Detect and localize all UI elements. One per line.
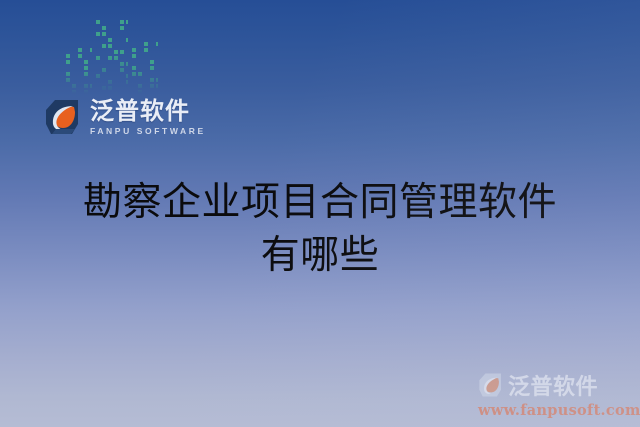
cityscape-left-tower (66, 48, 92, 94)
cityscape-pixel (144, 90, 148, 94)
cityscape-pixel (90, 90, 94, 94)
cityscape-pixel (90, 60, 94, 64)
cityscape-pixel (108, 86, 112, 90)
cityscape-pixel (96, 74, 100, 78)
cityscape-pixel (144, 78, 148, 82)
cityscape-pixel (102, 50, 106, 54)
cityscape-pixel (132, 54, 136, 58)
cityscape-pixel (132, 48, 136, 52)
cityscape-pixel (120, 74, 124, 78)
promo-banner: 泛普软件 FANPU SOFTWARE 勘察企业项目合同管理软件 有哪些 泛普软… (0, 0, 640, 427)
cityscape-pixel (114, 26, 118, 30)
cityscape-pixel (114, 74, 118, 78)
cityscape-pixel (150, 48, 154, 52)
cityscape-pixel (90, 54, 94, 58)
cityscape-pixel (138, 66, 142, 70)
cityscape-pixel (144, 42, 148, 46)
cityscape-pixel (96, 92, 100, 96)
cityscape-pixel (120, 44, 124, 48)
cityscape-pixel (132, 60, 136, 64)
cityscape-pixel (144, 60, 148, 64)
cityscape-pixel (102, 26, 106, 30)
cityscape-pixel (102, 74, 106, 78)
cityscape-pixel (156, 42, 160, 46)
cityscape-pixel (72, 78, 76, 82)
cityscape-pixel (90, 84, 94, 88)
cityscape-pixel (120, 32, 124, 36)
cityscape-pixel (108, 68, 112, 72)
cityscape-pixel (150, 90, 154, 94)
cityscape-pixel (156, 90, 160, 94)
cityscape-pixel (78, 54, 82, 58)
cityscape-center-tower (96, 20, 128, 94)
cityscape-pixel (138, 78, 142, 82)
cityscape-pixel (120, 20, 124, 24)
cityscape-pixel (114, 38, 118, 42)
cityscape-pixel (84, 72, 88, 76)
cityscape-pixel (126, 62, 130, 66)
cityscape-pixel (102, 44, 106, 48)
cityscape-pixel (90, 66, 94, 70)
cityscape-pixel (144, 48, 148, 52)
cityscape-pixel (138, 84, 142, 88)
cityscape-pixel (150, 66, 154, 70)
cityscape-pixel (108, 92, 112, 96)
cityscape-pixel (102, 62, 106, 66)
brand-name-en: FANPU SOFTWARE (90, 126, 206, 136)
cityscape-pixel (126, 68, 130, 72)
cityscape-pixel (66, 90, 70, 94)
cityscape-pixel (96, 50, 100, 54)
cityscape-pixel (72, 54, 76, 58)
cityscape-pixel (66, 84, 70, 88)
cityscape-pixel (84, 84, 88, 88)
cityscape-pixel (150, 60, 154, 64)
cityscape-pixel (132, 78, 136, 82)
cityscape-pixel (114, 86, 118, 90)
brand-name-cn: 泛普软件 (90, 99, 206, 124)
cityscape-pixel (108, 26, 112, 30)
cityscape-pixel (126, 92, 130, 96)
cityscape-pixel (120, 50, 124, 54)
cityscape-pixel (126, 20, 130, 24)
cityscape-pixel (96, 62, 100, 66)
cityscape-pixel (90, 78, 94, 82)
watermark: 泛普软件 www.fanpusoft.com (478, 369, 634, 419)
cityscape-pixel (102, 92, 106, 96)
cityscape-pixel (156, 72, 160, 76)
cityscape-pixel (144, 54, 148, 58)
cityscape-pixel (66, 66, 70, 70)
watermark-brand-name: 泛普软件 (508, 369, 598, 401)
cityscape-pixel (72, 72, 76, 76)
cityscape-pixel (114, 32, 118, 36)
cityscape-pixel (84, 54, 88, 58)
cityscape-pixel (102, 32, 106, 36)
cityscape-pixel (96, 68, 100, 72)
cityscape-pixel (96, 32, 100, 36)
cityscape-pixel (138, 60, 142, 64)
pixel-cityscape-graphic (66, 10, 156, 94)
cityscape-pixel (72, 84, 76, 88)
cityscape-pixel (138, 48, 142, 52)
cityscape-pixel (108, 56, 112, 60)
cityscape-pixel (102, 86, 106, 90)
cityscape-pixel (114, 56, 118, 60)
watermark-logo-mark-icon (478, 372, 505, 398)
cityscape-pixel (114, 80, 118, 84)
cityscape-pixel (102, 20, 106, 24)
cityscape-pixel (126, 38, 130, 42)
cityscape-pixel (102, 80, 106, 84)
cityscape-pixel (72, 60, 76, 64)
cityscape-pixel (66, 78, 70, 82)
cityscape-pixel (108, 38, 112, 42)
cityscape-pixel (96, 26, 100, 30)
cityscape-pixel (66, 48, 70, 52)
cityscape-pixel (108, 74, 112, 78)
cityscape-pixel (96, 56, 100, 60)
cityscape-pixel (114, 20, 118, 24)
cityscape-pixel (120, 62, 124, 66)
cityscape-pixel (78, 66, 82, 70)
cityscape-pixel (156, 78, 160, 82)
cityscape-pixel (102, 68, 106, 72)
cityscape-pixel (120, 92, 124, 96)
cityscape-pixel (84, 78, 88, 82)
cityscape-pixel (120, 86, 124, 90)
cityscape-pixel (138, 72, 142, 76)
cityscape-pixel (132, 66, 136, 70)
cityscape-pixel (114, 50, 118, 54)
page-title-line-1: 勘察企业项目合同管理软件 (0, 176, 640, 229)
cityscape-pixel (72, 48, 76, 52)
cityscape-pixel (132, 72, 136, 76)
cityscape-pixel (84, 60, 88, 64)
cityscape-pixel (78, 60, 82, 64)
cityscape-pixel (120, 38, 124, 42)
cityscape-pixel (144, 84, 148, 88)
cityscape-pixel (78, 90, 82, 94)
cityscape-pixel (78, 48, 82, 52)
cityscape-pixel (66, 72, 70, 76)
cityscape-pixel (96, 44, 100, 48)
cityscape-pixel (150, 84, 154, 88)
cityscape-pixel (108, 32, 112, 36)
cityscape-pixel (144, 66, 148, 70)
cityscape-pixel (156, 54, 160, 58)
cityscape-pixel (126, 74, 130, 78)
cityscape-pixel (126, 86, 130, 90)
cityscape-pixel (150, 54, 154, 58)
cityscape-pixel (150, 78, 154, 82)
cityscape-pixel (120, 68, 124, 72)
cityscape-pixel (120, 80, 124, 84)
cityscape-pixel (114, 62, 118, 66)
cityscape-pixel (120, 56, 124, 60)
cityscape-pixel (156, 66, 160, 70)
brand-logo: 泛普软件 FANPU SOFTWARE (44, 98, 206, 136)
cityscape-pixel (138, 42, 142, 46)
cityscape-pixel (108, 62, 112, 66)
cityscape-pixel (126, 44, 130, 48)
cityscape-pixel (96, 80, 100, 84)
cityscape-pixel (156, 84, 160, 88)
cityscape-pixel (150, 42, 154, 46)
cityscape-pixel (90, 48, 94, 52)
cityscape-pixel (66, 54, 70, 58)
page-title: 勘察企业项目合同管理软件 有哪些 (0, 176, 640, 282)
cityscape-pixel (84, 48, 88, 52)
cityscape-pixel (72, 66, 76, 70)
cityscape-pixel (96, 38, 100, 42)
cityscape-pixel (108, 80, 112, 84)
cityscape-pixel (90, 72, 94, 76)
cityscape-right-tower (132, 42, 158, 94)
cityscape-pixel (132, 90, 136, 94)
cityscape-pixel (138, 90, 142, 94)
cityscape-pixel (96, 20, 100, 24)
cityscape-pixel (156, 60, 160, 64)
watermark-logo-row: 泛普软件 (478, 369, 634, 401)
cityscape-pixel (96, 86, 100, 90)
cityscape-pixel (126, 26, 130, 30)
cityscape-pixel (78, 84, 82, 88)
cityscape-pixel (84, 66, 88, 70)
cityscape-pixel (144, 72, 148, 76)
cityscape-pixel (138, 54, 142, 58)
page-title-line-2: 有哪些 (0, 229, 640, 282)
cityscape-pixel (126, 80, 130, 84)
cityscape-pixel (126, 50, 130, 54)
cityscape-pixel (102, 38, 106, 42)
cityscape-pixel (66, 60, 70, 64)
cityscape-pixel (156, 48, 160, 52)
cityscape-pixel (150, 72, 154, 76)
cityscape-pixel (108, 44, 112, 48)
cityscape-pixel (72, 90, 76, 94)
cityscape-pixel (132, 42, 136, 46)
cityscape-pixel (132, 84, 136, 88)
cityscape-pixel (108, 50, 112, 54)
cityscape-pixel (120, 26, 124, 30)
fanpu-logo-mark-icon (44, 98, 84, 136)
brand-logo-text: 泛普软件 FANPU SOFTWARE (90, 98, 206, 136)
cityscape-pixel (114, 44, 118, 48)
cityscape-pixel (114, 92, 118, 96)
cityscape-pixel (126, 32, 130, 36)
cityscape-pixel (108, 20, 112, 24)
cityscape-pixel (102, 56, 106, 60)
cityscape-pixel (114, 68, 118, 72)
cityscape-pixel (84, 90, 88, 94)
cityscape-pixel (78, 78, 82, 82)
cityscape-pixel (78, 72, 82, 76)
cityscape-pixel (126, 56, 130, 60)
watermark-url: www.fanpusoft.com (478, 402, 634, 419)
